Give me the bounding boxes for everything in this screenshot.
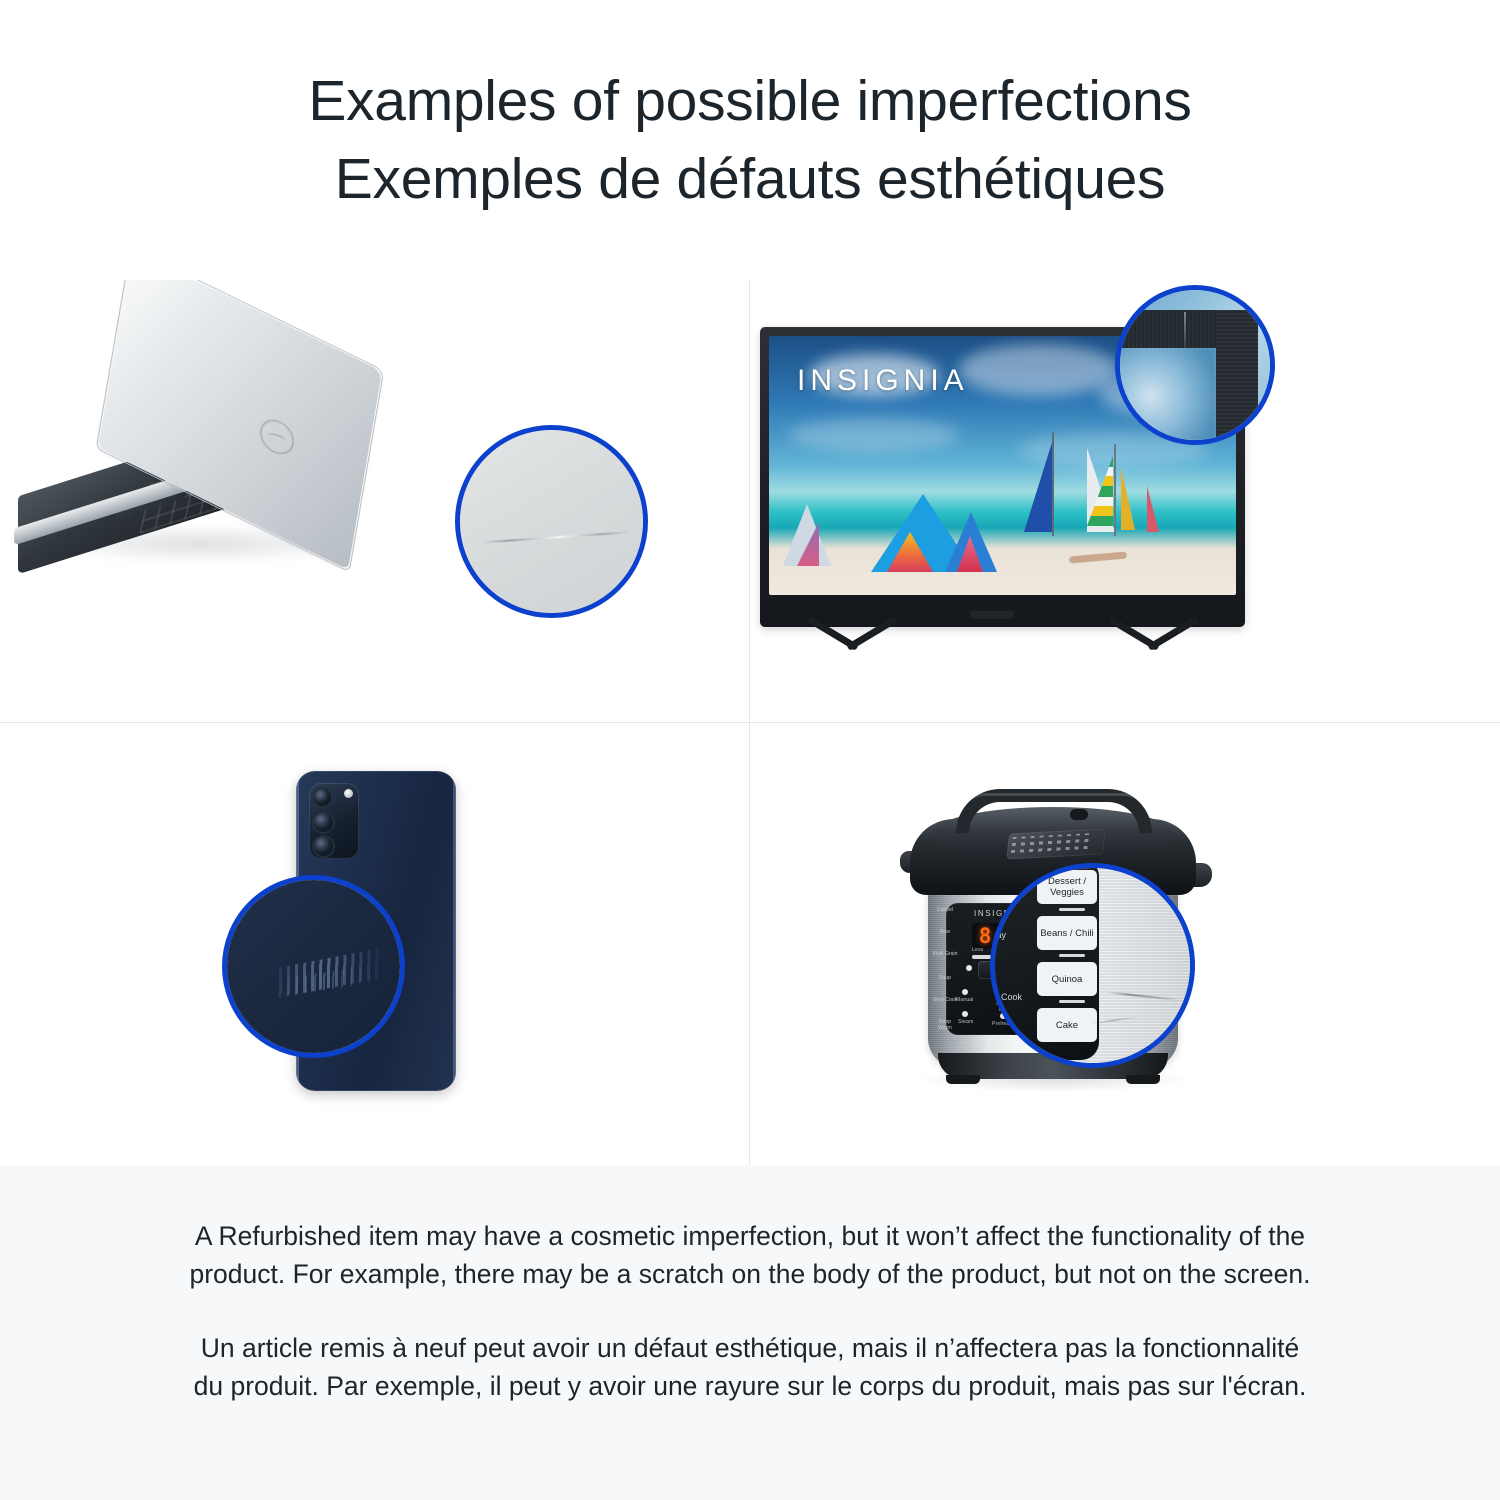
tv-closeup-bezel-right — [1216, 310, 1258, 445]
magnifier-tv-bezel — [1115, 285, 1275, 445]
cooker-closeup-button-dessert-veggies[interactable]: Dessert / Veggies — [1037, 870, 1097, 904]
cooker-closeup-button-beans-chili[interactable]: Beans / Chili — [1037, 916, 1097, 950]
cooker-closeup-button-quinoa[interactable]: Quinoa — [1037, 962, 1097, 996]
phone-camera-lens — [314, 837, 333, 856]
page-title-en: Examples of possible imperfections — [308, 62, 1191, 140]
cooker-lid-handle-highlight — [962, 793, 1146, 816]
page-title-fr: Exemples de défauts esthétiques — [335, 140, 1165, 218]
cooker-side-label: Soup — [932, 975, 958, 981]
tv-sailboat-sail — [1024, 436, 1054, 532]
tv-beach-boat — [1069, 551, 1127, 563]
cooker-side-label: Slow Cook — [932, 997, 958, 1003]
footer-paragraph-fr: Un article remis à neuf peut avoir un dé… — [185, 1329, 1315, 1405]
tv-screen-brand-logo: INSIGNIA — [797, 364, 969, 398]
refurbished-imperfections-infographic: Examples of possible imperfections Exemp… — [0, 0, 1500, 1500]
laptop-scratch-mark — [482, 525, 633, 549]
cooker-minus-button[interactable] — [966, 965, 972, 971]
tv-sailboat-mast — [1052, 432, 1054, 536]
pressure-cooker-illustration: INSIGNIA 8:00 Less Normal More — [750, 723, 1499, 1165]
cooker-mini-label: Steam — [958, 1019, 973, 1025]
examples-grid: INSIGNIA — [0, 280, 1500, 1165]
tv-cloud — [789, 418, 959, 452]
magnifier-phone-surface — [227, 880, 400, 1053]
phone-camera-lens — [314, 789, 331, 806]
magnifier-laptop-surface — [460, 430, 643, 613]
tv-sailboat-mast — [1114, 444, 1116, 536]
cooker-closeup-button-cake[interactable]: Cake — [1037, 1008, 1097, 1042]
cooker-side-label: Multi Grain — [932, 951, 958, 957]
tv-sailboat-sail — [1121, 468, 1135, 530]
tv-closeup-screen — [1115, 346, 1218, 445]
tv-bezel-defect-mark — [1184, 312, 1186, 348]
cooker-mini-label: Less — [972, 947, 983, 953]
cooker-manual-button[interactable] — [962, 989, 968, 995]
tv-sailboat-sail — [1147, 486, 1159, 532]
cooker-foot — [1126, 1075, 1160, 1084]
magnifier-phone-scuff — [222, 875, 405, 1058]
magnifier-tv-surface — [1120, 290, 1270, 440]
footer-paragraph-en: A Refurbished item may have a cosmetic i… — [185, 1217, 1315, 1293]
laptop-illustration — [0, 280, 749, 722]
magnifier-cooker-scratch: Delay Slow Cook Dessert / Veggies Beans … — [990, 863, 1195, 1068]
page-header: Examples of possible imperfections Exemp… — [0, 0, 1500, 255]
television-illustration: INSIGNIA — [750, 280, 1499, 722]
cooker-side-label: Cancel — [932, 907, 958, 913]
smartphone-illustration — [0, 723, 749, 1165]
magnifier-cooker-surface: Delay Slow Cook Dessert / Veggies Beans … — [995, 868, 1190, 1063]
cooker-closeup-side-label: Slow Cook — [990, 992, 1022, 1002]
example-cell-smartphone — [0, 723, 749, 1165]
example-cell-television: INSIGNIA — [750, 280, 1499, 722]
cooker-foot — [946, 1075, 980, 1084]
magnifier-laptop-scratch — [455, 425, 648, 618]
cooker-mini-label: Manual — [956, 997, 974, 1003]
example-cell-laptop — [0, 280, 749, 722]
tv-brand-bar — [970, 611, 1014, 619]
cooker-side-label: Rice — [932, 929, 958, 935]
cooker-side-label: Keep Warm — [932, 1019, 958, 1031]
footer-description: A Refurbished item may have a cosmetic i… — [0, 1165, 1500, 1500]
phone-flash-icon — [344, 789, 353, 798]
cooker-steam-button[interactable] — [962, 1011, 968, 1017]
tv-cloud — [959, 344, 1119, 396]
phone-camera-lens — [314, 813, 333, 832]
example-cell-pressure-cooker: INSIGNIA 8:00 Less Normal More — [750, 723, 1499, 1165]
